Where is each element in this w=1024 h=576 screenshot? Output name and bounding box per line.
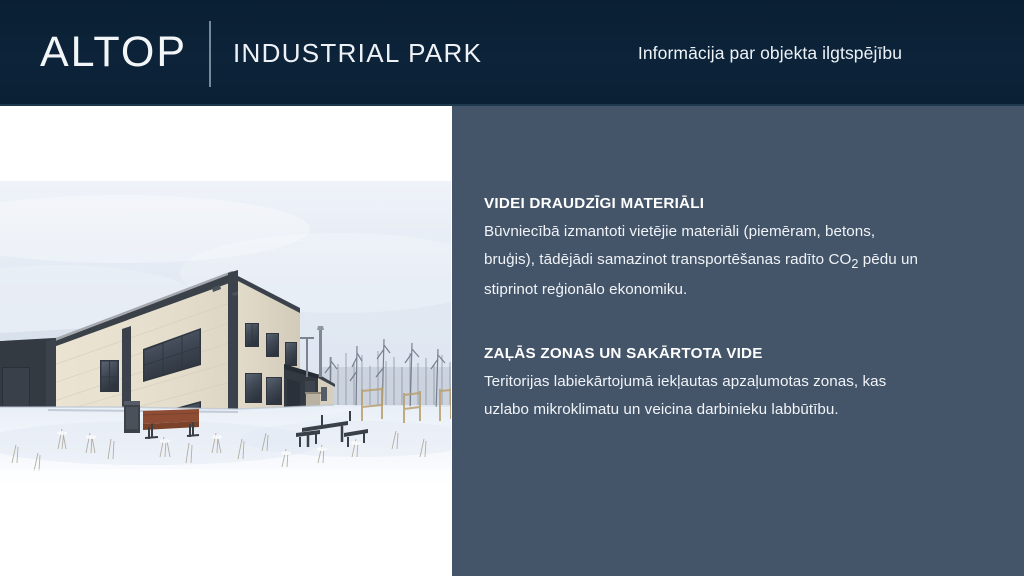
greenzones-line-2: uzlabo mikroklimatu un veicina darbiniek… [484,401,839,418]
building-photo [0,181,451,484]
slide-header: ALTOP INDUSTRIAL PARK Informācija par ob… [0,0,1024,106]
content-panel-body: VIDEI DRAUDZĪGI MATERIĀLI Būvniecībā izm… [484,195,984,424]
greenzones-line-1: Teritorijas labiekārtojumā iekļautas apz… [484,373,886,390]
waste-bin-object [124,401,140,433]
materials-line-2-pre: bruģis), tādējādi samazinot transportēša… [484,251,851,268]
materials-line-3: stiprinot reģionālo ekonomiku. [484,281,687,298]
logo-divider-icon [209,21,211,87]
logo-wordmark: ALTOP [40,31,187,77]
content-panel: VIDEI DRAUDZĪGI MATERIĀLI Būvniecībā izm… [452,106,1024,576]
building-photo-graphic [0,181,451,484]
materials-line-2-post: pēdu un [858,251,918,268]
block-body-materials: Būvniecībā izmantoti vietējie materiāli … [484,218,984,303]
block-spacer [484,303,984,345]
materials-line-1: Būvniecībā izmantoti vietējie materiāli … [484,223,875,240]
page-title: Informācija par objekta ilgtspējību [560,0,980,106]
block-body-greenzones: Teritorijas labiekārtojumā iekļautas apz… [484,368,984,423]
content-block-greenzones: ZAĻĀS ZONAS UN SAKĀRTOTA VIDE Teritorija… [484,345,984,423]
slide: ALTOP INDUSTRIAL PARK Informācija par ob… [0,0,1024,576]
block-heading-materials: VIDEI DRAUDZĪGI MATERIĀLI [484,195,984,212]
content-block-materials: VIDEI DRAUDZĪGI MATERIĀLI Būvniecībā izm… [484,195,984,303]
block-heading-greenzones: ZAĻĀS ZONAS UN SAKĀRTOTA VIDE [484,345,984,362]
brand-logo[interactable]: ALTOP INDUSTRIAL PARK [40,16,482,92]
logo-subtitle: INDUSTRIAL PARK [233,40,482,68]
